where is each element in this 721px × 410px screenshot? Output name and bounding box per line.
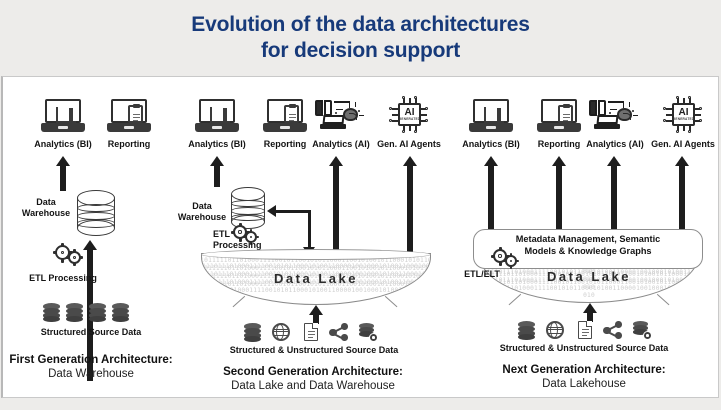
chip-generated-text: GENERATED: [399, 117, 421, 121]
label-structured-source-data: Structured Source Data: [6, 327, 176, 338]
chip-ai-text: AI: [679, 108, 689, 117]
title-line-2: for decision support: [261, 38, 460, 64]
arrow-shaft: [611, 165, 617, 231]
database-gear-icon: [633, 321, 651, 339]
gears-icon: [493, 249, 523, 271]
database-icon: [43, 303, 60, 322]
chip-ai-text: AI: [405, 108, 415, 117]
label-reporting: Reporting: [79, 139, 179, 150]
caption-second-generation: Second Generation Architecture: Data Lak…: [179, 365, 447, 393]
caption-subtitle: Data Warehouse: [3, 367, 179, 381]
section-first-generation: Analytics (BI) Reporting Data Warehouse: [3, 77, 179, 399]
share-nodes-icon: [603, 321, 622, 339]
arrow-shaft: [407, 165, 413, 253]
globe-icon: [546, 321, 564, 339]
label-etl-line2: Processing: [213, 240, 262, 250]
caption-next-generation: Next Generation Architecture: Data Lakeh…: [447, 363, 721, 391]
label-gen-ai-agents: Gen. AI Agents: [369, 139, 449, 150]
book-laptop-brain-icon: [315, 98, 365, 132]
laptop-bar-chart-icon: [469, 99, 513, 133]
arrow-segment-horizontal: [275, 210, 311, 213]
book-laptop-brain-icon: [589, 98, 639, 132]
document-icon: [578, 321, 592, 339]
label-source-data: Structured & Unstructured Source Data: [189, 345, 439, 356]
label-etl-elt: ETL/ELT: [451, 269, 513, 280]
caption-subtitle: Data Lakehouse: [447, 377, 721, 391]
metadata-line-1: Metadata Management, Semantic: [516, 234, 661, 244]
caption-subtitle: Data Lake and Data Warehouse: [179, 379, 447, 393]
diagram-root: Evolution of the data architectures for …: [0, 0, 721, 410]
label-etl-processing: ETL Processing: [213, 229, 275, 251]
label-etl-processing: ETL Processing: [5, 273, 121, 284]
chip-generated-text: GENERATED: [673, 117, 695, 121]
database-icon: [66, 303, 83, 322]
label-source-data: Structured & Unstructured Source Data: [459, 343, 709, 354]
arrow-segment-vertical: [308, 210, 311, 250]
caption-first-generation: First Generation Architecture: Data Ware…: [3, 353, 179, 381]
document-icon: [304, 323, 318, 341]
laptop-clipboard-icon: [263, 99, 307, 133]
data-warehouse-cylinder-icon: [77, 190, 115, 236]
gears-icon: [55, 245, 85, 267]
label-dw-line2: Warehouse: [22, 208, 70, 218]
arrow-shaft: [556, 165, 562, 231]
caption-title: Second Generation Architecture:: [179, 365, 447, 379]
database-icon: [244, 323, 261, 342]
label-dw-line1: Data: [36, 197, 56, 207]
label-etl-line1: ETL: [213, 229, 230, 239]
diagram-panel: Analytics (BI) Reporting Data Warehouse: [1, 76, 719, 398]
share-nodes-icon: [329, 323, 348, 341]
label-dw-line1: Data: [192, 201, 212, 211]
database-icon: [89, 303, 106, 322]
caption-title: First Generation Architecture:: [3, 353, 179, 367]
laptop-clipboard-icon: [107, 99, 151, 133]
metadata-line-2: Models & Knowledge Graphs: [524, 246, 651, 256]
database-icon: [112, 303, 129, 322]
data-lake-label: Data Lake: [201, 271, 431, 286]
laptop-bar-chart-icon: [41, 99, 85, 133]
globe-icon: [272, 323, 290, 341]
label-data-warehouse: Data Warehouse: [175, 201, 229, 223]
ai-chip-icon: AIGENERATED: [663, 98, 703, 132]
section-second-generation: Analytics (BI) Reporting Analytics (AI): [179, 77, 447, 399]
laptop-clipboard-icon: [537, 99, 581, 133]
arrow-shaft: [333, 165, 339, 253]
section-next-generation: Analytics (BI) Reporting Analytics (AI): [447, 77, 721, 399]
arrow-shaft: [679, 165, 685, 231]
caption-title: Next Generation Architecture:: [447, 363, 721, 377]
title-line-1: Evolution of the data architectures: [191, 12, 529, 38]
data-warehouse-cylinder-icon: [231, 187, 265, 229]
database-icon: [518, 321, 535, 340]
arrow-shaft: [488, 165, 494, 231]
label-dw-line2: Warehouse: [178, 212, 226, 222]
laptop-bar-chart-icon: [195, 99, 239, 133]
ai-chip-icon: AIGENERATED: [389, 98, 429, 132]
data-lake-shape: 0001011111011010001111001011001010110001…: [201, 253, 431, 305]
label-gen-ai-agents: Gen. AI Agents: [643, 139, 721, 150]
arrow-shaft: [60, 165, 66, 191]
arrow-shaft: [214, 165, 220, 187]
label-data-warehouse: Data Warehouse: [17, 197, 75, 219]
page-title: Evolution of the data architectures for …: [0, 0, 721, 75]
database-gear-icon: [359, 323, 377, 341]
